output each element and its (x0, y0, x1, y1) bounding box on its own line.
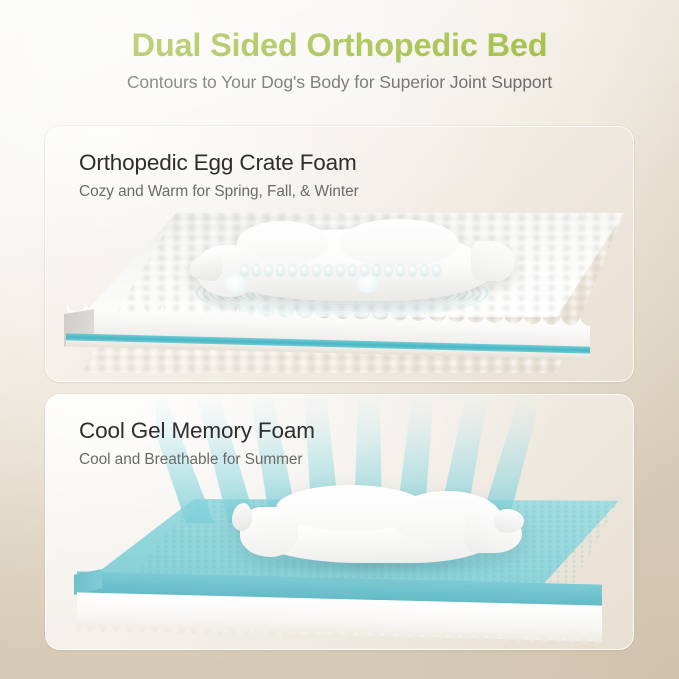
dog-ear (232, 503, 252, 531)
dog-spine-dots (241, 263, 457, 277)
page-subtitle: Contours to Your Dog's Body for Superior… (0, 72, 679, 93)
dog-silhouette-on-gel-foam (224, 483, 524, 569)
feature-card-orthopedic-egg-crate: Orthopedic Egg Crate Foam Cozy and Warm … (45, 126, 634, 382)
card-text-block: Orthopedic Egg Crate Foam Cozy and Warm … (79, 149, 359, 201)
card-subtitle: Cozy and Warm for Spring, Fall, & Winter (79, 183, 359, 201)
dog-silhouette-pressed-in-foam (189, 219, 519, 309)
card-title: Cool Gel Memory Foam (79, 417, 315, 444)
egg-crate-mattress (64, 213, 624, 373)
page-title: Dual Sided Orthopedic Bed (0, 27, 679, 63)
dog-paw (494, 509, 524, 533)
infographic-page: Dual Sided Orthopedic Bed Contours to Yo… (0, 0, 679, 679)
dog-paw-front (225, 275, 247, 293)
dog-back (339, 219, 459, 267)
card-text-block: Cool Gel Memory Foam Cool and Breathable… (79, 417, 315, 469)
dog-paw-rear (357, 275, 379, 293)
dog-snout (189, 255, 223, 281)
feature-card-cool-gel-memory-foam: Cool Gel Memory Foam Cool and Breathable… (45, 394, 634, 650)
card-title: Orthopedic Egg Crate Foam (79, 149, 359, 176)
header: Dual Sided Orthopedic Bed Contours to Yo… (0, 0, 679, 93)
card-subtitle: Cool and Breathable for Summer (79, 451, 315, 469)
dog-hind-leg (471, 241, 515, 281)
